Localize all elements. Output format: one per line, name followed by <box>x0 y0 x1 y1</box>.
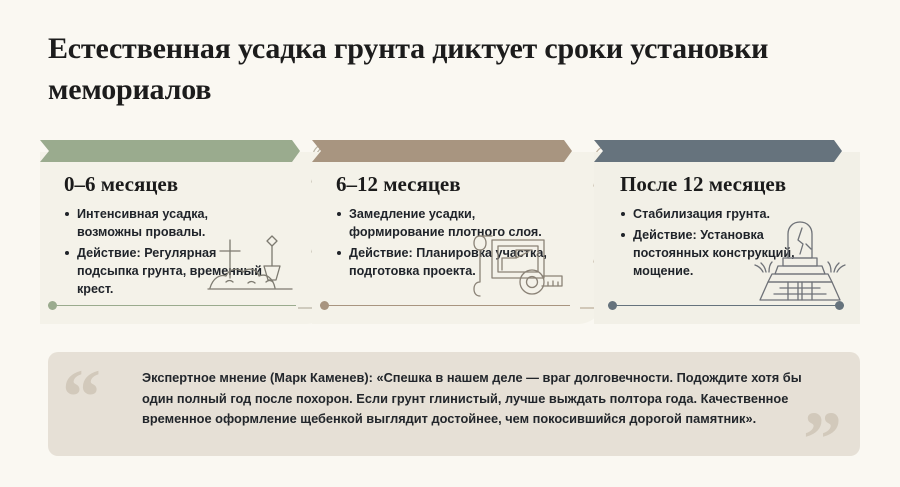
expert-quote-block: “ ” Экспертное мнение (Марк Каменев): «С… <box>48 352 860 456</box>
list-item: Действие: Регулярная подсыпка грунта, вр… <box>64 245 274 299</box>
card-timeline <box>48 301 296 310</box>
card-timeline <box>608 301 844 310</box>
timeline-bar <box>48 305 296 307</box>
quote-text: Экспертное мнение (Марк Каменев): «Спешк… <box>142 368 802 430</box>
quote-close-mark: ” <box>803 400 842 478</box>
card-timeline <box>320 301 570 310</box>
timeline-dot <box>320 301 329 310</box>
list-item: Замедление усадки, формирование плотного… <box>336 206 556 242</box>
timeline-dot-start <box>608 301 617 310</box>
card-ribbon-banner <box>40 140 300 162</box>
list-item: Стабилизация грунта. <box>620 206 832 224</box>
card-heading: После 12 месяцев <box>620 172 786 197</box>
card-bullet-list: Замедление усадки, формирование плотного… <box>336 206 556 284</box>
card-bullet-list: Стабилизация грунта. Действие: Установка… <box>620 206 832 284</box>
page-title: Естественная усадка грунта диктует сроки… <box>48 28 808 111</box>
card-ribbon-banner <box>312 140 572 162</box>
list-item: Действие: Планировка участка, подготовка… <box>336 245 556 281</box>
card-bullet-list: Интенсивная усадка, возможны провалы. Де… <box>64 206 274 301</box>
list-item: Действие: Установка постоянных конструкц… <box>620 227 832 281</box>
timeline-card-0-6[interactable]: 0–6 месяцев Интенсивная усадка, возможны… <box>40 138 332 324</box>
quote-open-mark: “ <box>62 358 101 436</box>
timeline-bar <box>320 305 570 307</box>
infographic-root: Естественная усадка грунта диктует сроки… <box>0 0 900 487</box>
list-item: Интенсивная усадка, возможны провалы. <box>64 206 274 242</box>
timeline-bar <box>608 305 844 307</box>
timeline-card-6-12[interactable]: 6–12 месяцев Замедление усадки, формиров… <box>312 138 604 324</box>
card-ribbon-banner <box>594 140 842 162</box>
timeline-card-after-12[interactable]: После 12 месяцев Стабилизация грунта. Де… <box>594 138 860 324</box>
timeline-cards: 0–6 месяцев Интенсивная усадка, возможны… <box>40 138 860 324</box>
card-heading: 6–12 месяцев <box>336 172 461 197</box>
card-heading: 0–6 месяцев <box>64 172 178 197</box>
timeline-dot-end <box>835 301 844 310</box>
timeline-dot <box>48 301 57 310</box>
